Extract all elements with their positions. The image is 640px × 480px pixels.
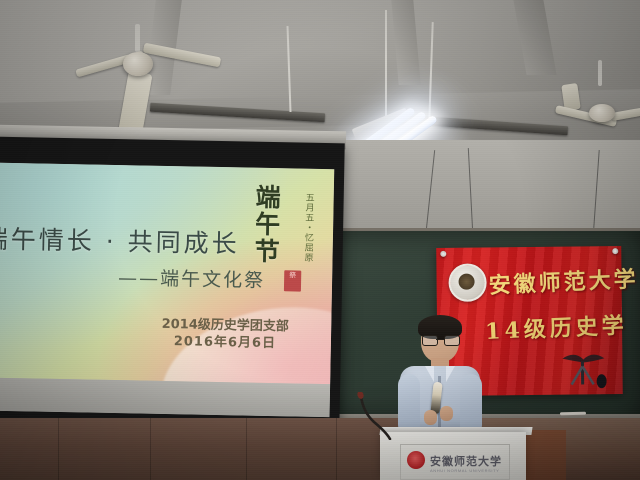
glasses-icon	[422, 335, 458, 344]
screen-blank-area	[0, 378, 330, 417]
slide-subtitle: ——端午文化祭	[118, 263, 266, 293]
wainscot-seam	[246, 418, 247, 480]
shirt-collar	[425, 366, 434, 382]
seal-stamp-icon: 祭	[284, 270, 301, 291]
banner-university-name: 安徽师范大学	[488, 261, 639, 300]
speaker-hand-left	[424, 410, 437, 425]
podium-university-subtitle: ANHUI NORMAL UNIVERSITY	[430, 468, 499, 473]
speaker-hand-right	[440, 406, 453, 421]
ceiling-fan-left	[105, 24, 255, 94]
ceiling-fan-right	[545, 60, 640, 120]
wainscot-seam	[58, 418, 59, 480]
fan-motor	[123, 52, 153, 76]
university-logo-icon	[407, 451, 425, 469]
wainscot-seam	[150, 418, 151, 480]
fan-motor	[589, 104, 615, 122]
wainscot-seam	[336, 418, 337, 480]
projection-screen: 端午情长 · 共同成长 ——端午文化祭 2014级历史学团支部 2016年6月6…	[0, 137, 345, 434]
presentation-slide: 端午情长 · 共同成长 ——端午文化祭 2014级历史学团支部 2016年6月6…	[0, 163, 334, 384]
slide-organization: 2014级历史学团支部	[145, 316, 305, 336]
podium-university-name: 安徽师范大学	[430, 453, 502, 469]
chalk-stick	[560, 412, 586, 415]
calligraphy-main-text: 端午节	[254, 184, 300, 266]
fan-blade	[611, 103, 640, 121]
glasses-lens	[444, 335, 460, 346]
banner-pin	[612, 248, 618, 254]
podium-side-panel	[526, 430, 566, 480]
banner-ornament-icon	[560, 348, 606, 388]
projection-screen-surface: 端午情长 · 共同成长 ——端午文化祭 2014级历史学团支部 2016年6月6…	[0, 163, 334, 417]
glasses-bridge	[436, 339, 444, 340]
classroom-photo: 端午情长 · 共同成长 ——端午文化祭 2014级历史学团支部 2016年6月6…	[0, 0, 640, 480]
calligraphy-side-text: 五月五・忆屈原	[301, 193, 315, 263]
slide-calligraphy-block: 端午节 五月五・忆屈原 祭	[254, 184, 312, 297]
seal-core	[459, 274, 475, 290]
shirt-collar	[446, 366, 455, 382]
gooseneck-microphone-icon	[356, 392, 402, 440]
slide-title: 端午情长 · 共同成长	[0, 219, 283, 261]
fan-rod	[598, 60, 602, 86]
fan-rod	[135, 24, 140, 52]
fan-blade	[143, 43, 221, 68]
wood-wainscot	[0, 418, 400, 480]
slide-footer: 2014级历史学团支部 2016年6月6日	[145, 316, 306, 353]
banner-pin	[440, 251, 446, 257]
glasses-lens	[422, 335, 438, 346]
slide-date: 2016年6月6日	[145, 333, 305, 353]
wall-upper-section	[318, 140, 640, 232]
banner-class-name: 14级历史学	[484, 308, 628, 346]
lamp-wire	[385, 10, 387, 120]
podium-nameplate: 安徽师范大学 ANHUI NORMAL UNIVERSITY	[400, 444, 510, 480]
ceiling-beam	[391, 0, 420, 85]
university-seal-icon	[448, 263, 486, 301]
